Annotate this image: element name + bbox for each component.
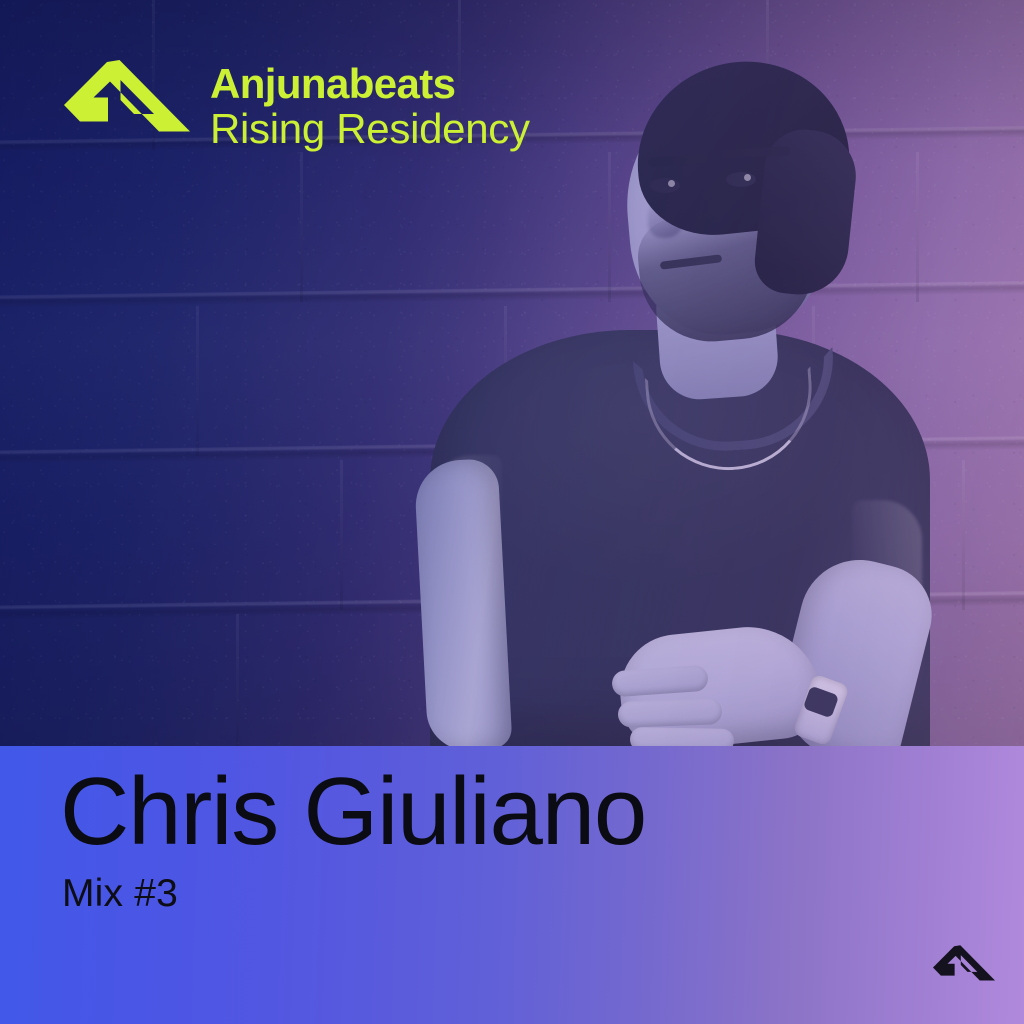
subject-eye-highlight-near xyxy=(744,174,751,181)
subject-eye-highlight-far xyxy=(668,180,675,187)
brand-text: Anjunabeats Rising Residency xyxy=(210,58,530,151)
subject-eye-far xyxy=(650,178,680,193)
subject-left-arm xyxy=(413,458,512,746)
anjunabeats-a-logo-icon xyxy=(62,58,192,138)
brand-name: Anjunabeats xyxy=(210,62,530,107)
mix-cover-artwork: Anjunabeats Rising Residency Chris Giuli… xyxy=(0,0,1024,1024)
brand-tagline: Rising Residency xyxy=(210,107,530,152)
subject-eye-near xyxy=(726,172,756,187)
brand-lockup: Anjunabeats Rising Residency xyxy=(62,58,530,151)
anjunabeats-a-logo-small-icon xyxy=(932,944,996,984)
mix-number-label: Mix #3 xyxy=(62,874,178,913)
artist-name: Chris Giuliano xyxy=(60,764,646,860)
title-band: Chris Giuliano Mix #3 xyxy=(0,746,1024,1024)
